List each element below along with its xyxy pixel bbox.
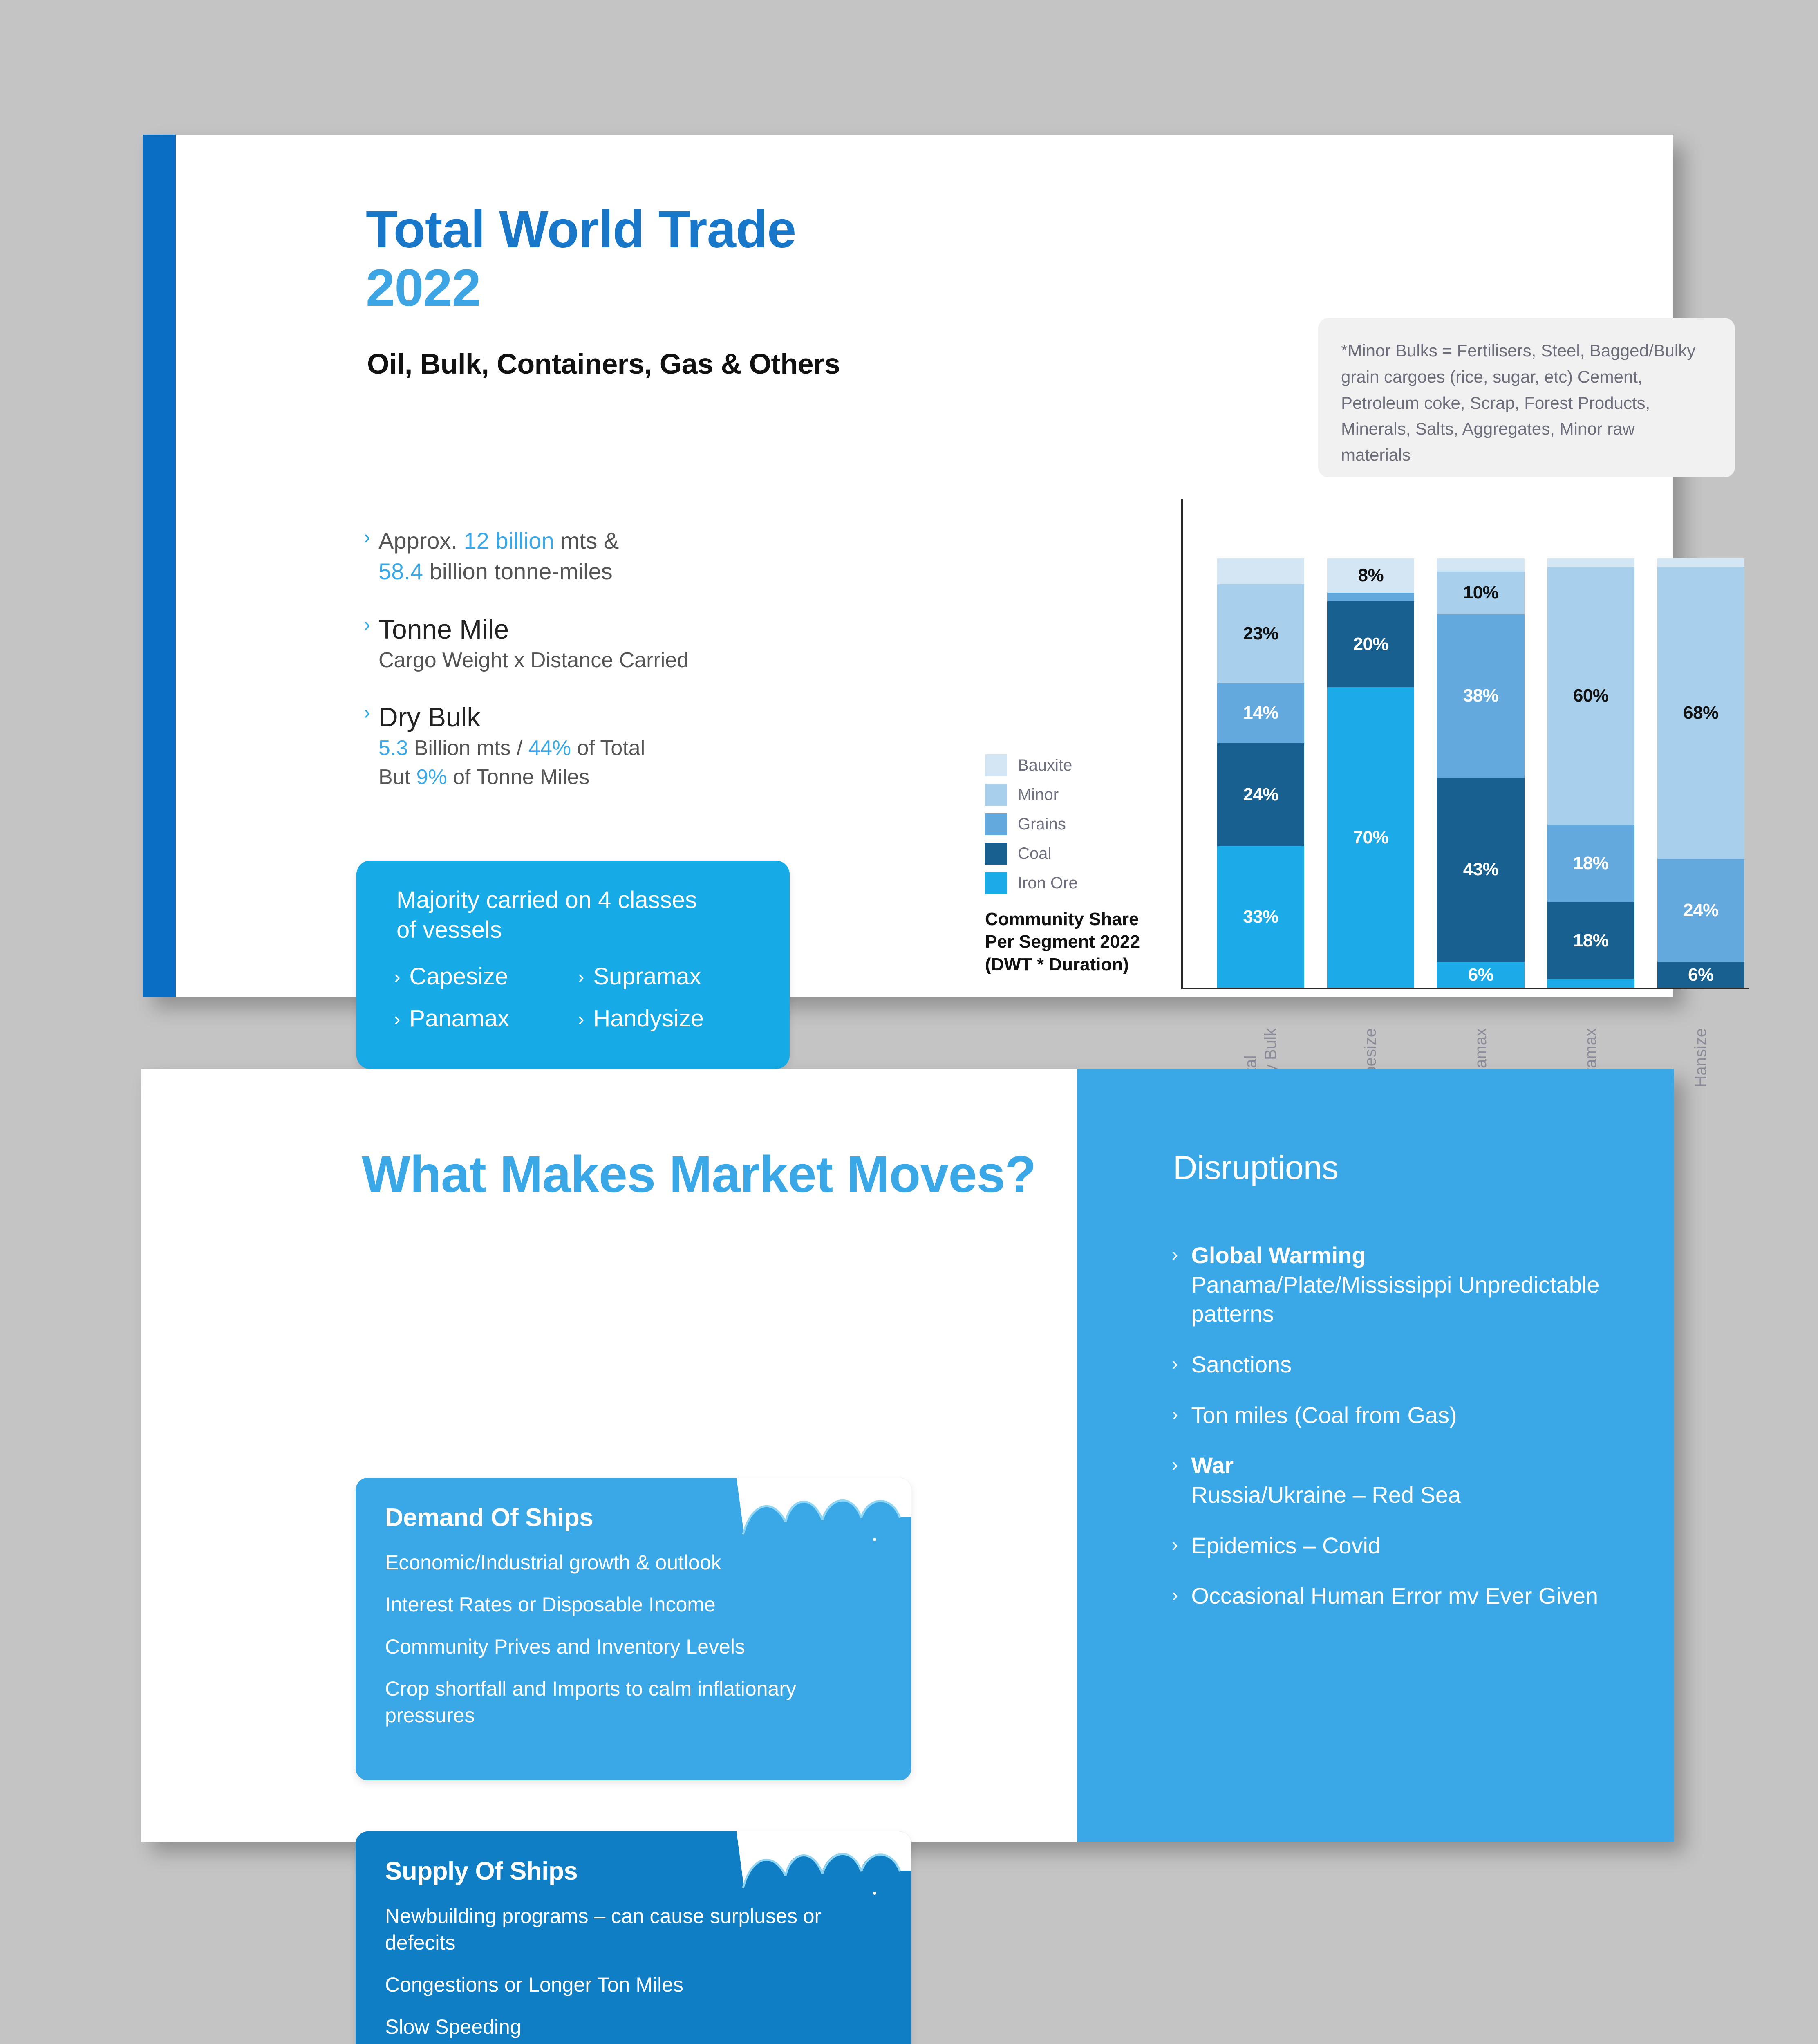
legend-item-grains[interactable]: Grains	[985, 813, 1165, 835]
legend-item-bauxite[interactable]: Bauxite	[985, 754, 1165, 776]
bar-segment-minor: 68%	[1657, 567, 1744, 859]
community-share-chart: 23%14%24%33%8%20%70%10%38%43%6%60%18%18%…	[1181, 499, 1749, 1024]
vessel-card-title: Majority carried on 4 classes of vessels	[396, 885, 707, 945]
legend-label: Coal	[1018, 845, 1051, 863]
supply-of-ships-card: Supply Of Ships Newbuilding programs – c…	[356, 1831, 911, 2044]
bar-segment-value: 70%	[1353, 827, 1389, 848]
vessel-class-handysize[interactable]: › Handysize	[578, 1005, 762, 1032]
bar-segment-value: 6%	[1688, 965, 1714, 985]
disruption-title: Sanctions	[1191, 1350, 1292, 1379]
bar-segment-bauxite	[1547, 558, 1634, 567]
dry-bulk-share: 44%	[528, 736, 571, 760]
fact-approx-unit: mts &	[554, 528, 619, 554]
bar-segment-coal: 20%	[1327, 601, 1414, 687]
chevron-right-icon: ›	[1172, 1585, 1178, 1604]
bar-segment-bauxite	[1657, 558, 1744, 567]
chevron-right-icon: ›	[1172, 1405, 1178, 1423]
dry-bulk-share-suffix: of Total	[571, 736, 645, 760]
list-item: Interest Rates or Disposable Income	[385, 1591, 871, 1618]
chart-caption-line: Community Share	[985, 908, 1165, 930]
disruption-detail: Panama/Plate/Mississippi Unpredictable p…	[1191, 1270, 1654, 1329]
bar-segment-value: 18%	[1573, 930, 1609, 951]
dry-bulk-tm-suffix: of Tonne Miles	[447, 765, 590, 789]
chevron-right-icon: ›	[364, 615, 370, 635]
disruptions-panel: Disruptions ›Global WarmingPanama/Plate/…	[1077, 1069, 1674, 1842]
minor-bulks-note-card: *Minor Bulks = Fertilisers, Steel, Bagge…	[1318, 318, 1735, 477]
chevron-right-icon: ›	[394, 967, 400, 986]
disruption-item[interactable]: ›WarRussia/Ukraine – Red Sea	[1172, 1451, 1654, 1509]
bar-total-dry-bulk[interactable]: 23%14%24%33%	[1217, 558, 1304, 988]
legend-swatch	[985, 784, 1007, 806]
bar-capesize[interactable]: 8%20%70%	[1327, 558, 1414, 988]
vessel-class-capesize[interactable]: › Capesize	[394, 963, 578, 990]
disruption-item[interactable]: ›Sanctions	[1172, 1350, 1654, 1379]
disruption-item[interactable]: ›Ton miles (Coal from Gas)	[1172, 1401, 1654, 1430]
bar-segment-value: 60%	[1573, 686, 1609, 706]
list-item: Slow Speeding	[385, 2014, 871, 2040]
supply-items-list: Newbuilding programs – can cause surplus…	[385, 1903, 871, 2044]
fact-approx-prefix: Approx.	[378, 528, 464, 554]
chevron-right-icon: ›	[1172, 1455, 1178, 1474]
disruptions-heading: Disruptions	[1173, 1149, 1339, 1187]
legend-label: Iron Ore	[1018, 874, 1078, 892]
chart-caption: Community SharePer Segment 2022(DWT * Du…	[985, 908, 1165, 976]
page-title: Total World Trade 2022	[366, 200, 796, 318]
fact-tonne-miles: 58.4 billion tonne-miles	[378, 556, 619, 587]
fact-approx: Approx. 12 billion mts &	[378, 525, 619, 556]
bar-segment-value: 68%	[1683, 703, 1719, 723]
vessel-class-label: Supramax	[593, 963, 701, 990]
disruption-item[interactable]: ›Global WarmingPanama/Plate/Mississippi …	[1172, 1241, 1654, 1329]
disruptions-list: ›Global WarmingPanama/Plate/Mississippi …	[1172, 1241, 1654, 1632]
bar-segment-bauxite	[1217, 558, 1304, 584]
title-line-1: Total World Trade	[366, 200, 796, 259]
bar-segment-value: 24%	[1243, 784, 1278, 805]
page-subtitle: Oil, Bulk, Containers, Gas & Others	[367, 347, 840, 380]
list-item: Crop shortfall and Imports to calm infla…	[385, 1676, 871, 1729]
disruption-title: Global Warming	[1191, 1241, 1654, 1270]
bar-segment-iron-ore	[1547, 979, 1634, 988]
bar-segment-bauxite: 8%	[1327, 558, 1414, 593]
legend-swatch	[985, 813, 1007, 835]
fact-dry-bulk-line1: 5.3 Billion mts / 44% of Total	[378, 734, 645, 763]
key-facts-list: › Approx. 12 billion mts & 58.4 billion …	[364, 525, 875, 804]
title-year: 2022	[366, 259, 796, 317]
card-title: Supply Of Ships	[385, 1857, 578, 1886]
list-item: › Dry Bulk 5.3 Billion mts / 44% of Tota…	[364, 701, 875, 791]
bar-segment-coal: 6%	[1657, 962, 1744, 988]
vessel-classes-grid: › Capesize › Supramax › Panamax › Handys…	[394, 963, 762, 1032]
chevron-right-icon: ›	[1172, 1245, 1178, 1264]
bar-segment-value: 8%	[1358, 565, 1384, 586]
bar-segment-value: 33%	[1243, 907, 1278, 927]
fact-tonne-mile-definition: Cargo Weight x Distance Carried	[378, 646, 689, 675]
bar-segment-value: 24%	[1683, 900, 1719, 921]
disruption-title: Occasional Human Error mv Ever Given	[1191, 1581, 1598, 1611]
demand-items-list: Economic/Industrial growth & outlook Int…	[385, 1549, 871, 1744]
chevron-right-icon: ›	[1172, 1535, 1178, 1554]
chart-legend: BauxiteMinorGrainsCoalIron Ore Community…	[985, 754, 1165, 976]
dry-bulk-mts: 5.3	[378, 736, 408, 760]
dry-bulk-mts-unit: Billion mts /	[408, 736, 528, 760]
list-item: Economic/Industrial growth & outlook	[385, 1549, 871, 1576]
list-item: Congestions or Longer Ton Miles	[385, 1972, 871, 1998]
vessel-class-panamax[interactable]: › Panamax	[394, 1005, 578, 1032]
legend-item-minor[interactable]: Minor	[985, 784, 1165, 806]
bar-segment-minor: 10%	[1437, 572, 1524, 614]
bar-panamax[interactable]: 10%38%43%6%	[1437, 558, 1524, 988]
chart-bars: 23%14%24%33%8%20%70%10%38%43%6%60%18%18%…	[1217, 558, 1744, 988]
disruption-title: Epidemics – Covid	[1191, 1531, 1381, 1560]
chevron-right-icon: ›	[364, 703, 370, 723]
bar-segment-value: 43%	[1463, 859, 1499, 880]
bar-segment-minor: 23%	[1217, 584, 1304, 683]
vessel-class-label: Handysize	[593, 1005, 704, 1032]
vessel-class-supramax[interactable]: › Supramax	[578, 963, 762, 990]
slide-accent-bar	[143, 135, 176, 997]
minor-bulks-note-text: *Minor Bulks = Fertilisers, Steel, Bagge…	[1341, 338, 1709, 468]
bar-segment-value: 10%	[1463, 583, 1499, 603]
bar-segment-grains: 14%	[1217, 683, 1304, 743]
disruption-item[interactable]: ›Occasional Human Error mv Ever Given	[1172, 1581, 1654, 1611]
bar-segment-iron-ore: 70%	[1327, 687, 1414, 988]
bar-segment-coal: 18%	[1547, 902, 1634, 979]
chevron-right-icon: ›	[394, 1009, 400, 1028]
disruption-detail: Russia/Ukraine – Red Sea	[1191, 1480, 1461, 1510]
bar-segment-iron-ore: 33%	[1217, 846, 1304, 988]
bar-supramax[interactable]: 60%18%18%	[1547, 558, 1634, 988]
bar-segment-value: 20%	[1353, 634, 1389, 654]
legend-swatch	[985, 872, 1007, 894]
bar-segment-minor: 60%	[1547, 567, 1634, 825]
vessel-class-label: Panamax	[409, 1005, 509, 1032]
bar-segment-value: 38%	[1463, 686, 1499, 706]
chevron-right-icon: ›	[578, 967, 584, 986]
disruption-title: War	[1191, 1451, 1461, 1480]
bar-segment-value: 23%	[1243, 623, 1278, 644]
demand-of-ships-card: Demand Of Ships Economic/Industrial grow…	[356, 1478, 911, 1780]
disruption-title: Ton miles (Coal from Gas)	[1191, 1401, 1457, 1430]
fact-dry-bulk-heading: Dry Bulk	[378, 701, 645, 734]
bar-segment-coal: 24%	[1217, 743, 1304, 846]
page-title: What Makes Market Moves?	[362, 1145, 1036, 1204]
chevron-right-icon: ›	[1172, 1354, 1178, 1373]
bar-segment-value: 6%	[1468, 965, 1494, 985]
bar-segment-grains: 24%	[1657, 859, 1744, 962]
legend-label: Bauxite	[1018, 756, 1072, 775]
chart-x-axis	[1181, 988, 1749, 989]
bar-segment-value: 14%	[1243, 703, 1278, 723]
legend-swatch	[985, 754, 1007, 776]
chart-y-axis	[1181, 499, 1183, 989]
chart-caption-line: Per Segment 2022	[985, 930, 1165, 953]
list-item: › Approx. 12 billion mts & 58.4 billion …	[364, 525, 875, 587]
list-item: › Tonne Mile Cargo Weight x Distance Car…	[364, 613, 875, 675]
chart-caption-line: (DWT * Duration)	[985, 953, 1165, 976]
fact-tonne-miles-value: 58.4	[378, 558, 423, 584]
list-item: Newbuilding programs – can cause surplus…	[385, 1903, 871, 1956]
vessel-class-label: Capesize	[409, 963, 508, 990]
bar-segment-iron-ore: 6%	[1437, 962, 1524, 988]
legend-label: Minor	[1018, 786, 1059, 804]
bar-segment-grains	[1327, 593, 1414, 601]
bar-segment-grains: 18%	[1547, 825, 1634, 902]
bar-segment-value: 18%	[1573, 853, 1609, 874]
list-item: Community Prives and Inventory Levels	[385, 1634, 871, 1660]
disruption-item[interactable]: ›Epidemics – Covid	[1172, 1531, 1654, 1560]
fact-approx-value: 12 billion	[464, 528, 554, 554]
fact-tonne-miles-unit: billion tonne-miles	[423, 558, 613, 584]
legend-swatch	[985, 843, 1007, 865]
vessel-classes-card: Majority carried on 4 classes of vessels…	[356, 861, 790, 1069]
legend-item-iron-ore[interactable]: Iron Ore	[985, 872, 1165, 894]
bar-hansize[interactable]: 68%24%6%	[1657, 558, 1744, 988]
bar-segment-coal: 43%	[1437, 778, 1524, 962]
legend-label: Grains	[1018, 815, 1066, 834]
x-tick-label: Hansize	[1691, 1028, 1711, 1087]
bar-segment-grains: 38%	[1437, 614, 1524, 778]
fact-dry-bulk-line2: But 9% of Tonne Miles	[378, 763, 645, 792]
fact-tonne-mile-heading: Tonne Mile	[378, 613, 689, 646]
slide-market-moves: What Makes Market Moves? Demand Of Ships…	[141, 1069, 1674, 1842]
card-title: Demand Of Ships	[385, 1503, 593, 1532]
chevron-right-icon: ›	[578, 1009, 584, 1028]
bar-segment-bauxite	[1437, 558, 1524, 572]
chevron-right-icon: ›	[364, 528, 370, 547]
dry-bulk-but: But	[378, 765, 416, 789]
slide-total-world-trade: Total World Trade 2022 Oil, Bulk, Contai…	[143, 135, 1673, 997]
legend-item-coal[interactable]: Coal	[985, 843, 1165, 865]
dry-bulk-tm-share: 9%	[416, 765, 447, 789]
